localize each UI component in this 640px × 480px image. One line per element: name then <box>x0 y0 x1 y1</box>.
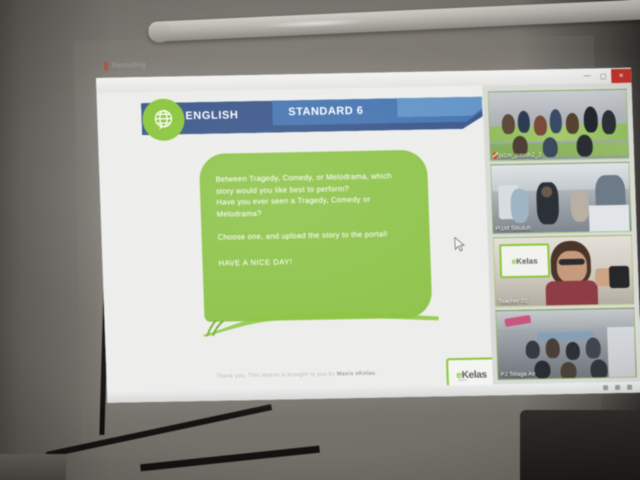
participant-name: pi1m_pasoh2_2 <box>493 151 542 159</box>
participant-label: pi1m_pasoh2_2 <box>499 152 542 159</box>
slide-content-card: Between Tragedy, Comedy, or Melodrama, w… <box>199 150 433 322</box>
grass-decoration-icon <box>200 310 441 337</box>
ekelas-board-icon: eKelas <box>499 243 550 278</box>
participant-video-strip: pi1m_pasoh2_2 Pi1M Sibuluh eKelas <box>482 83 640 396</box>
participant-name: Teacher 01 <box>498 299 528 306</box>
toolbar-icon-2[interactable] <box>615 385 620 390</box>
application-window: — ▢ × https://ekelas.maxis.com.my/class … <box>96 68 640 403</box>
furniture-right <box>520 410 640 480</box>
recording-label: Recording <box>112 61 146 69</box>
video-tile[interactable]: pi1m_pasoh2_2 <box>488 89 629 162</box>
maximize-button[interactable]: ▢ <box>595 69 611 82</box>
footer-prefix: Thank you. This lesson is brought to you… <box>216 371 337 379</box>
participant-name: PJ Telaga Air <box>501 372 536 379</box>
video-tile[interactable]: Pi1M Sibuluh <box>490 162 631 235</box>
mouse-pointer-icon <box>454 237 466 253</box>
furniture-left <box>0 454 66 480</box>
recording-dot-icon <box>104 61 108 70</box>
slide-instruction-text: Choose one, and upload the story to the … <box>217 228 413 243</box>
lesson-slide: ENGLISH STANDARD 6 Between Tragedy, Come… <box>97 86 493 403</box>
minimize-button[interactable]: — <box>579 69 595 82</box>
participant-label: PJ Telaga Air <box>501 372 536 379</box>
toolbar-icon-1[interactable] <box>603 385 608 390</box>
board-text-kelas: Kelas <box>516 256 538 265</box>
muted-mic-icon <box>493 152 497 159</box>
close-button[interactable]: × <box>611 68 631 82</box>
slide-header-banner-lighter <box>397 97 483 118</box>
video-tile[interactable]: PJ Telaga Air <box>495 308 636 381</box>
video-tile[interactable]: eKelas Teacher 01 <box>493 235 634 308</box>
toolbar-icon-3[interactable] <box>627 385 632 390</box>
participant-name: Pi1M Sibuluh <box>495 226 531 233</box>
slide-closing-text: HAVE A NICE DAY! <box>218 254 414 269</box>
participant-label: Pi1M Sibuluh <box>495 226 531 233</box>
slide-standard-label: STANDARD 6 <box>288 105 363 118</box>
footer-brand: Maxis eKelas. <box>337 371 377 378</box>
slide-subject-label: ENGLISH <box>185 109 239 122</box>
slide-question-text: Between Tragedy, Comedy, or Melodrama, w… <box>215 170 413 220</box>
globe-icon <box>142 98 185 141</box>
logo-tagline: maxis <box>459 378 468 382</box>
participant-label: Teacher 01 <box>498 299 528 306</box>
